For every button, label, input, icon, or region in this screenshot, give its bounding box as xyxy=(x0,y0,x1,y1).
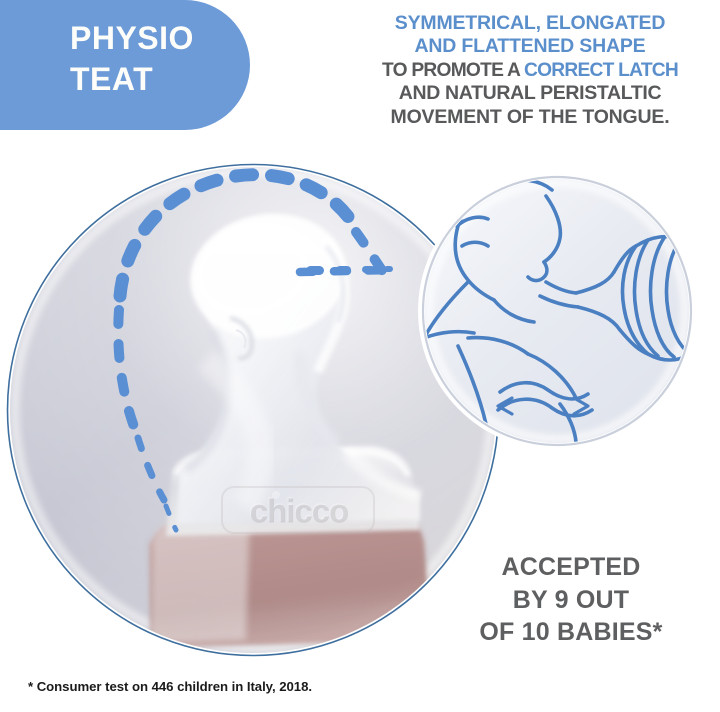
product-photo-circle: chicco chicco xyxy=(8,165,499,656)
headline-line-1: SYMMETRICAL, ELONGATED xyxy=(340,12,720,35)
headline-line-3-blue: CORRECT LATCH xyxy=(524,60,678,81)
badge-line-1: PHYSIO xyxy=(70,18,280,59)
accepted-claim: ACCEPTED BY 9 OUT OF 10 BABIES* xyxy=(430,551,712,649)
headline: SYMMETRICAL, ELONGATED AND FLATTENED SHA… xyxy=(340,12,720,129)
accepted-line-3: OF 10 BABIES* xyxy=(430,616,712,649)
badge-line-2: TEAT xyxy=(70,59,280,100)
physio-teat-badge-label: PHYSIO TEAT xyxy=(70,18,280,100)
svg-text:chicco: chicco xyxy=(250,493,349,530)
headline-line-3: TO PROMOTE A CORRECT LATCH xyxy=(340,59,720,82)
headline-line-2: AND FLATTENED SHAPE xyxy=(340,35,720,58)
headline-line-4: AND NATURAL PERISTALTIC xyxy=(340,82,720,105)
accepted-line-2: BY 9 OUT xyxy=(430,584,712,617)
footnote: * Consumer test on 446 children in Italy… xyxy=(28,679,312,694)
headline-line-3-gray: TO PROMOTE A xyxy=(382,60,524,81)
accepted-line-1: ACCEPTED xyxy=(430,551,712,584)
headline-line-5: MOVEMENT OF THE TONGUE. xyxy=(340,106,720,129)
